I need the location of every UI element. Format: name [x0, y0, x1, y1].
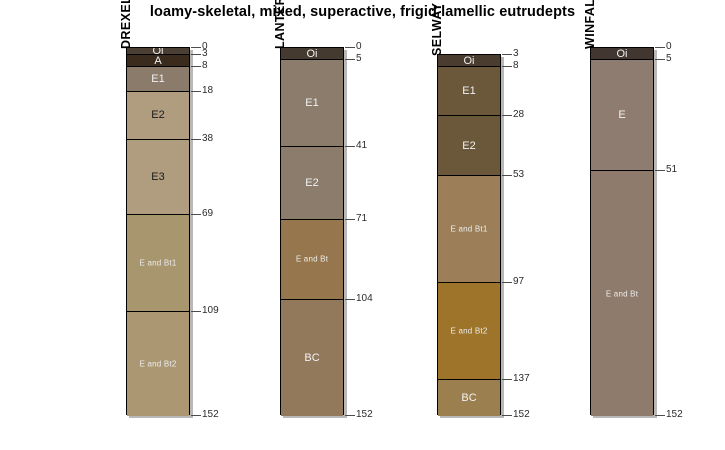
profile-name-label: SELWAY	[430, 3, 444, 56]
profile-column: OiE1E2E and Bt1E and Bt2BC	[437, 54, 501, 415]
depth-tick	[655, 59, 665, 60]
soil-horizon[interactable]: E and Bt2	[127, 312, 189, 416]
column-shadow	[344, 50, 347, 418]
soil-horizon[interactable]: Oi	[127, 48, 189, 55]
soil-horizon[interactable]: E1	[127, 67, 189, 91]
soil-horizon[interactable]: E and Bt	[281, 220, 343, 300]
depth-tick-label: 109	[202, 306, 219, 316]
soil-horizon[interactable]: Oi	[281, 48, 343, 60]
depth-tick	[191, 66, 201, 67]
depth-tick-label: 71	[356, 214, 367, 224]
soil-horizon[interactable]: E and Bt2	[438, 283, 500, 380]
depth-tick-label: 3	[202, 49, 208, 59]
depth-tick-label: 152	[513, 410, 530, 420]
soil-horizon[interactable]: E3	[127, 140, 189, 215]
depth-tick-label: 8	[202, 61, 208, 71]
horizon-label: E1	[281, 97, 343, 109]
depth-tick	[345, 146, 355, 147]
depth-tick-label: 69	[202, 209, 213, 219]
horizon-label: E3	[127, 171, 189, 183]
soil-horizon[interactable]: E2	[438, 116, 500, 177]
depth-tick-label: 0	[666, 42, 672, 52]
depth-tick-label: 0	[356, 42, 362, 52]
horizon-label: E and Bt	[281, 255, 343, 264]
depth-tick	[502, 175, 512, 176]
depth-tick	[502, 282, 512, 283]
soil-horizon[interactable]: E2	[281, 147, 343, 220]
depth-tick	[345, 47, 355, 48]
horizon-label: E1	[438, 85, 500, 97]
depth-tick-label: 53	[513, 170, 524, 180]
horizon-label: E and Bt1	[438, 225, 500, 234]
depth-tick	[655, 170, 665, 171]
depth-tick	[655, 47, 665, 48]
soil-horizon[interactable]: A	[127, 55, 189, 67]
depth-tick-label: 18	[202, 86, 213, 96]
profile-column: OiAE1E2E3E and Bt1E and Bt2	[126, 47, 190, 415]
horizon-label: Oi	[281, 48, 343, 60]
soil-horizon[interactable]: E1	[281, 60, 343, 147]
horizon-label: E and Bt1	[127, 258, 189, 267]
depth-tick-label: 137	[513, 374, 530, 384]
depth-tick	[502, 54, 512, 55]
horizon-label: E2	[127, 109, 189, 121]
horizon-label: Oi	[438, 55, 500, 67]
soil-horizon[interactable]: E and Bt1	[438, 176, 500, 283]
profile-name-label: WINFALL	[583, 0, 597, 49]
depth-tick	[502, 115, 512, 116]
depth-tick	[502, 66, 512, 67]
depth-tick-label: 97	[513, 277, 524, 287]
horizon-label: BC	[438, 392, 500, 404]
depth-tick	[345, 299, 355, 300]
depth-tick-label: 104	[356, 294, 373, 304]
depth-tick	[191, 91, 201, 92]
soil-horizon[interactable]: E2	[127, 92, 189, 140]
depth-tick-label: 152	[356, 410, 373, 420]
soil-profile-chart: loamy-skeletal, mixed, superactive, frig…	[0, 0, 725, 450]
horizon-label: E2	[438, 140, 500, 152]
depth-tick-label: 38	[202, 134, 213, 144]
horizon-label: E and Bt	[591, 289, 653, 298]
column-shadow	[501, 57, 504, 418]
depth-tick-label: 3	[513, 49, 519, 59]
soil-horizon[interactable]: E1	[438, 67, 500, 115]
depth-tick	[191, 139, 201, 140]
horizon-label: E and Bt2	[127, 359, 189, 368]
soil-horizon[interactable]: E	[591, 60, 653, 171]
horizon-label: E and Bt2	[438, 326, 500, 335]
depth-tick	[655, 415, 665, 416]
soil-horizon[interactable]: E and Bt1	[127, 215, 189, 312]
page-title: loamy-skeletal, mixed, superactive, frig…	[0, 4, 725, 20]
horizon-label: BC	[281, 352, 343, 364]
profile-column: OiEE and Bt	[590, 47, 654, 415]
profile-column: OiE1E2E and BtBC	[280, 47, 344, 415]
depth-tick	[502, 415, 512, 416]
soil-horizon[interactable]: Oi	[591, 48, 653, 60]
depth-tick	[191, 311, 201, 312]
column-shadow	[190, 50, 193, 418]
profile-name-label: LANTERN	[273, 0, 287, 49]
profile-name-label: DREXEL	[119, 0, 133, 49]
depth-tick	[191, 415, 201, 416]
depth-tick	[345, 415, 355, 416]
horizon-label: E2	[281, 177, 343, 189]
column-shadow	[654, 50, 657, 418]
depth-tick-label: 152	[202, 410, 219, 420]
horizon-label: E1	[127, 73, 189, 85]
depth-tick-label: 28	[513, 110, 524, 120]
depth-tick-label: 41	[356, 141, 367, 151]
depth-tick	[345, 219, 355, 220]
depth-tick	[502, 379, 512, 380]
depth-tick	[191, 54, 201, 55]
soil-horizon[interactable]: BC	[438, 380, 500, 416]
horizon-label: Oi	[127, 48, 189, 55]
depth-tick	[191, 214, 201, 215]
depth-tick	[191, 47, 201, 48]
soil-horizon[interactable]: E and Bt	[591, 171, 653, 416]
horizon-label: E	[591, 109, 653, 121]
soil-horizon[interactable]: BC	[281, 300, 343, 416]
depth-tick-label: 5	[356, 54, 362, 64]
horizon-label: A	[127, 55, 189, 67]
depth-tick-label: 152	[666, 410, 683, 420]
horizon-label: Oi	[591, 48, 653, 60]
depth-tick-label: 8	[513, 61, 519, 71]
depth-tick-label: 51	[666, 165, 677, 175]
depth-tick	[345, 59, 355, 60]
soil-horizon[interactable]: Oi	[438, 55, 500, 67]
depth-tick-label: 5	[666, 54, 672, 64]
